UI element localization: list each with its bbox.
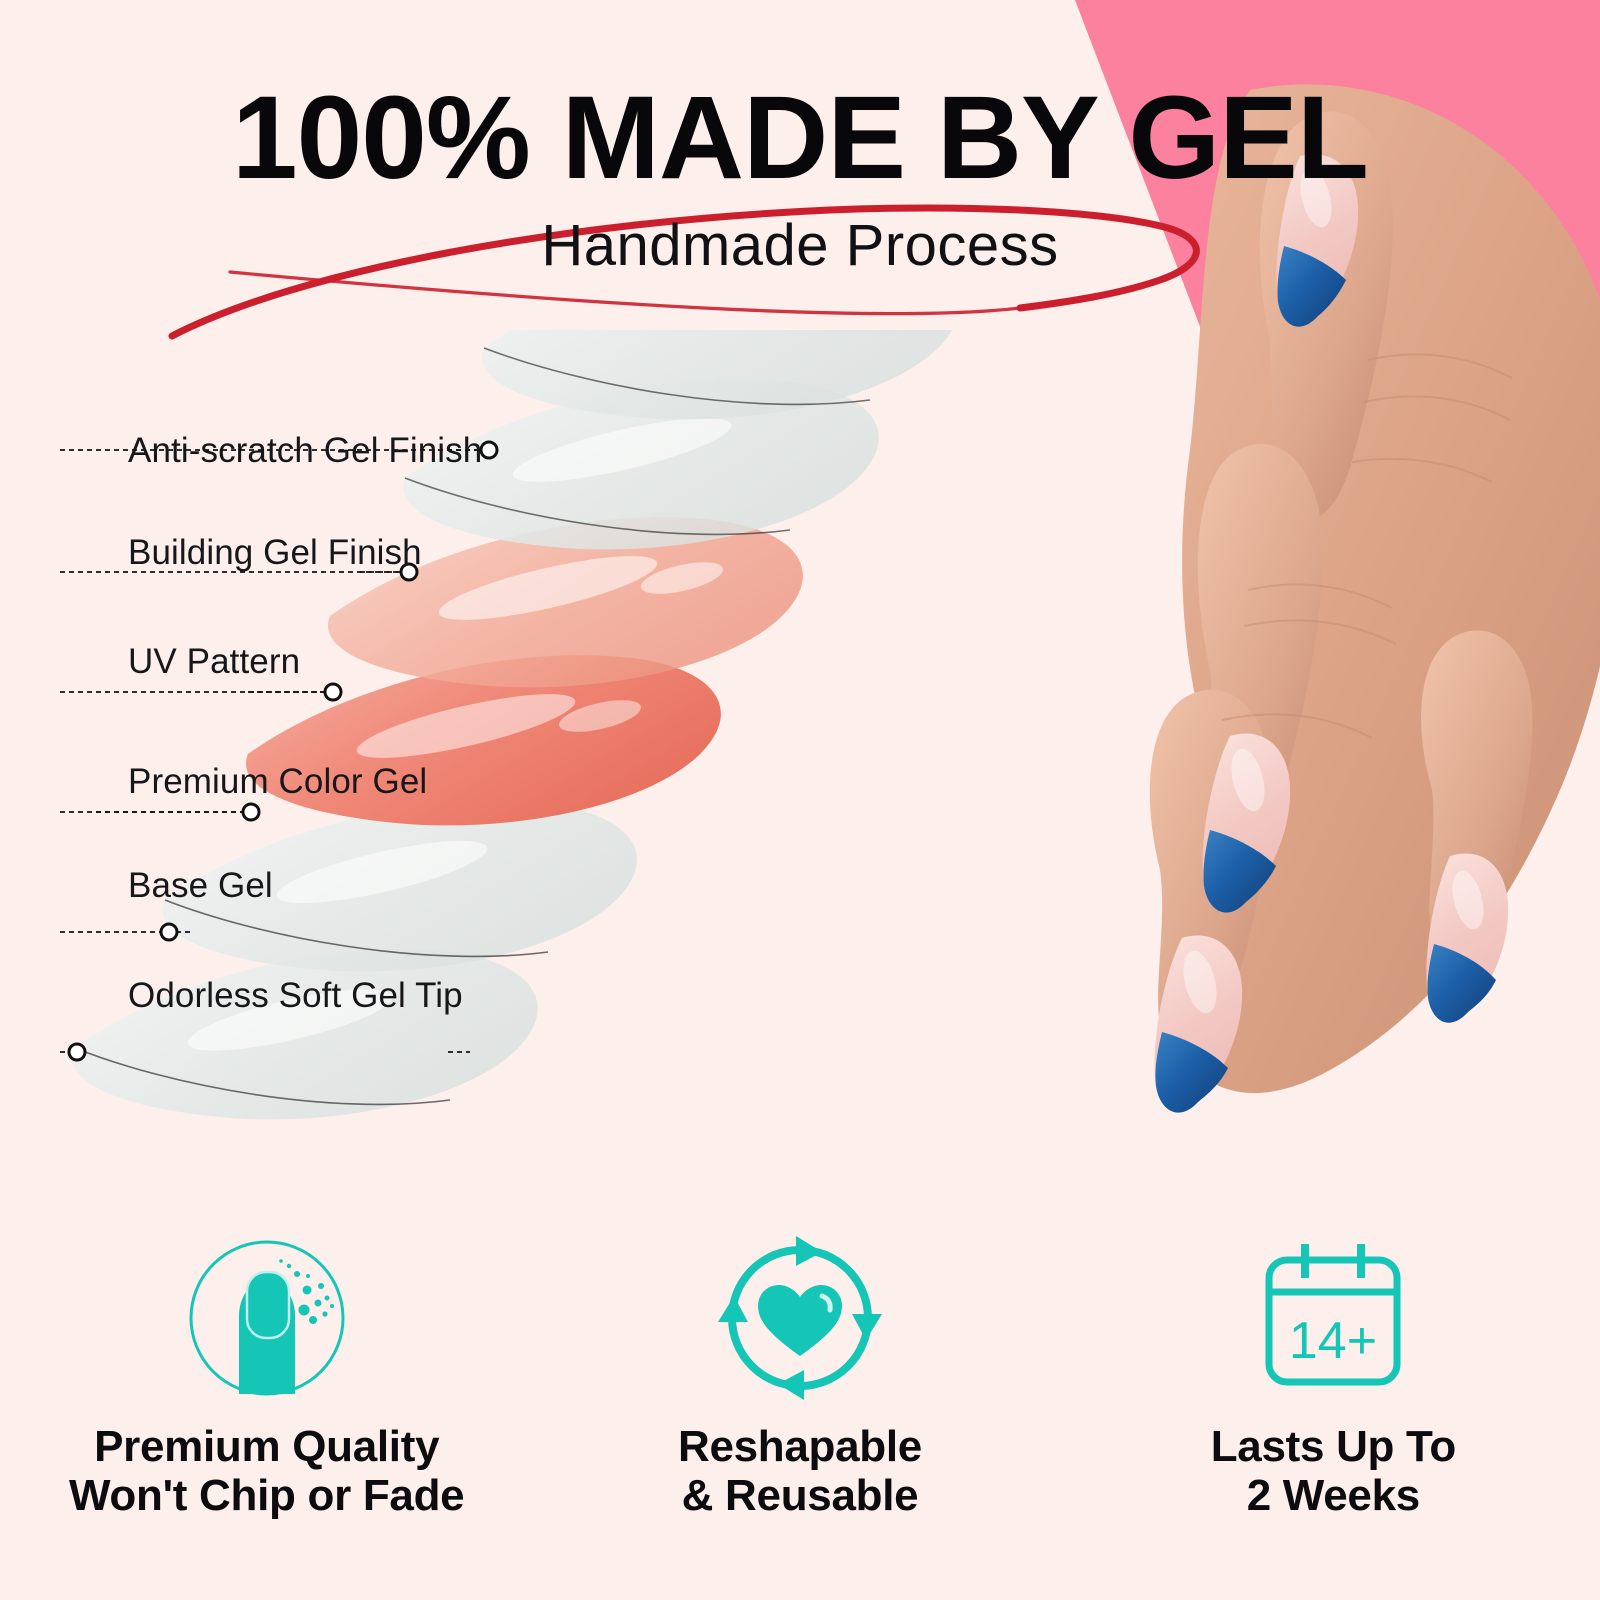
layer-label-base-gel: Base Gel [128, 866, 273, 906]
layer-label-anti-scratch-gel-finish: Anti-scratch Gel Finish [128, 431, 482, 471]
layer-connector-dot [69, 1044, 85, 1060]
layer-label-premium-color-gel: Premium Color Gel [128, 762, 427, 802]
feature-caption-lasts-two-weeks: Lasts Up To 2 Weeks [1211, 1422, 1456, 1521]
nail-sparkle-circle-icon [177, 1228, 357, 1408]
calendar-badge-text: 14+ [1289, 1312, 1377, 1370]
feature-premium-quality: Premium Quality Won't Chip or Fade [0, 1228, 533, 1588]
layer-connector-dot [161, 924, 177, 940]
nail-ring [1155, 935, 1243, 1112]
feature-row: Premium Quality Won't Chip or Fade [0, 1228, 1600, 1588]
headline-block: 100% MADE BY GEL Handmade Process [0, 78, 1600, 279]
page-subtitle: Handmade Process [0, 212, 1600, 279]
layer-connector-dot [325, 684, 341, 700]
layer-shape-odorless-soft-gel-tip [73, 949, 538, 1119]
layer-label-odorless-soft-gel-tip: Odorless Soft Gel Tip [128, 976, 463, 1016]
nail-pinky [1426, 853, 1508, 1022]
layer-connector-dot [243, 804, 259, 820]
layer-shape-anti-scratch-gel-finish [482, 330, 959, 419]
layer-connector-dot [481, 442, 497, 458]
feature-caption-reshapable-reusable: Reshapable & Reusable [678, 1422, 922, 1521]
layer-label-uv-pattern: UV Pattern [128, 642, 300, 682]
page-title: 100% MADE BY GEL [0, 78, 1600, 198]
calendar-icon: 14+ [1243, 1228, 1423, 1408]
nail-middle [1203, 733, 1291, 912]
feature-reshapable-reusable: Reshapable & Reusable [533, 1228, 1066, 1588]
feature-lasts-two-weeks: 14+ Lasts Up To 2 Weeks [1067, 1228, 1600, 1588]
layer-label-building-gel-finish: Building Gel Finish [128, 533, 422, 573]
feature-caption-premium-quality: Premium Quality Won't Chip or Fade [69, 1422, 464, 1521]
heart-recycle-arrows-icon [710, 1228, 890, 1408]
